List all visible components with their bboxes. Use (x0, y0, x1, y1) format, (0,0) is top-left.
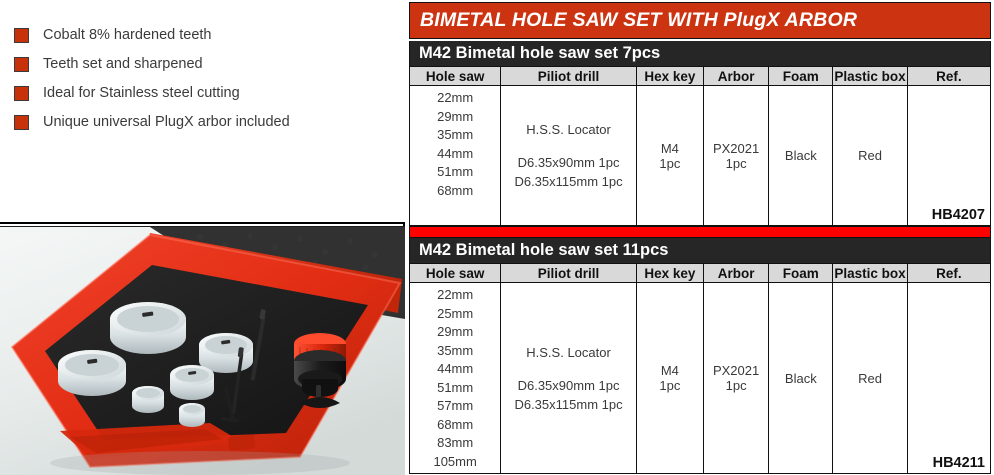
column-header-arbor: Arbor (703, 264, 768, 283)
arbor-model: PX2021 (704, 141, 768, 156)
hole-saw-size: 22mm (437, 89, 473, 108)
right-panel: BIMETAL HOLE SAW SET WITH PlugX ARBOR M4… (405, 0, 994, 475)
column-header-plastic-box: Plastic box (833, 264, 907, 283)
arbor-qty: 1pc (704, 156, 768, 171)
hole-saw-size: 44mm (437, 145, 473, 164)
hole-saw-size: 35mm (437, 126, 473, 145)
cell-pilot-drill: H.S.S. Locator D6.35x90mm 1pc D6.35x115m… (501, 86, 636, 226)
column-header-hole-saw: Hole saw (410, 67, 501, 86)
list-item: Cobalt 8% hardened teeth (14, 22, 405, 49)
bullet-square-icon (14, 115, 29, 130)
hole-saw-size: 22mm (437, 286, 473, 305)
table-header-row: Hole saw Piliot drill Hex key Arbor Foam… (410, 264, 991, 283)
column-header-hex-key: Hex key (636, 67, 703, 86)
feature-list: Cobalt 8% hardened teeth Teeth set and s… (0, 0, 405, 224)
hole-saw-size: 51mm (437, 379, 473, 398)
hole-saw-size: 51mm (437, 163, 473, 182)
feature-label: Unique universal PlugX arbor included (43, 115, 290, 130)
bullet-square-icon (14, 57, 29, 72)
bullet-square-icon (14, 86, 29, 101)
hex-key-size: M4 (637, 363, 703, 378)
pilot-locator: H.S.S. Locator (501, 343, 635, 362)
hex-key-qty: 1pc (637, 156, 703, 171)
arbor-qty: 1pc (704, 378, 768, 393)
cell-hole-saw-sizes: 22mm 29mm 35mm 44mm 51mm 68mm (410, 86, 501, 226)
column-header-hex-key: Hex key (636, 264, 703, 283)
column-header-pilot-drill: Piliot drill (501, 264, 636, 283)
hole-saw-size: 44mm (437, 360, 473, 379)
pilot-drill-spec: D6.35x115mm 1pc (501, 172, 635, 191)
section-title-bar: M42 Bimetal hole saw set 11pcs (409, 238, 991, 263)
bullet-square-icon (14, 28, 29, 43)
pilot-drill-spec: D6.35x90mm 1pc (501, 376, 635, 395)
column-header-ref: Ref. (907, 67, 990, 86)
hole-saw-size: 83mm (437, 434, 473, 453)
list-item: Unique universal PlugX arbor included (14, 109, 405, 136)
ref-code: HB4211 (933, 455, 985, 471)
ref-code: HB4207 (932, 207, 985, 223)
column-header-foam: Foam (769, 67, 833, 86)
list-item: Ideal for Stainless steel cutting (14, 80, 405, 107)
product-photo (0, 226, 405, 475)
cell-foam: Black (769, 86, 833, 226)
section-title: M42 Bimetal hole saw set 11pcs (410, 241, 668, 260)
left-panel: Cobalt 8% hardened teeth Teeth set and s… (0, 0, 405, 475)
hole-saw-size: 57mm (437, 397, 473, 416)
column-header-plastic-box: Plastic box (833, 67, 907, 86)
spec-table-11pcs: Hole saw Piliot drill Hex key Arbor Foam… (409, 263, 991, 474)
column-header-foam: Foam (769, 264, 833, 283)
cell-plastic-box: Red (833, 86, 907, 226)
cell-foam: Black (769, 283, 833, 474)
cell-arbor: PX2021 1pc (703, 283, 768, 474)
hole-saw-size: 25mm (437, 305, 473, 324)
spec-table-7pcs: Hole saw Piliot drill Hex key Arbor Foam… (409, 66, 991, 226)
arbor-model: PX2021 (704, 363, 768, 378)
section-title-bar: M42 Bimetal hole saw set 7pcs (409, 41, 991, 66)
column-header-arbor: Arbor (703, 67, 768, 86)
cell-arbor: PX2021 1pc (703, 86, 768, 226)
feature-label: Teeth set and sharpened (43, 57, 203, 72)
cell-hex-key: M4 1pc (636, 86, 703, 226)
table-header-row: Hole saw Piliot drill Hex key Arbor Foam… (410, 67, 991, 86)
cell-ref: HB4207 (907, 86, 990, 226)
hole-saw-size: 105mm (433, 453, 476, 472)
column-header-hole-saw: Hole saw (410, 264, 501, 283)
hex-key-qty: 1pc (637, 378, 703, 393)
cell-ref: HB4211 (907, 283, 990, 474)
pilot-locator: H.S.S. Locator (501, 120, 635, 139)
section-divider (409, 226, 991, 238)
product-datasheet: Cobalt 8% hardened teeth Teeth set and s… (0, 0, 994, 475)
feature-label: Cobalt 8% hardened teeth (43, 28, 212, 43)
pilot-drill-spec: D6.35x90mm 1pc (501, 153, 635, 172)
table-row: 22mm 29mm 35mm 44mm 51mm 68mm H.S.S. Loc… (410, 86, 991, 226)
section-title: M42 Bimetal hole saw set 7pcs (410, 44, 660, 63)
cell-hex-key: M4 1pc (636, 283, 703, 474)
list-item: Teeth set and sharpened (14, 51, 405, 78)
product-banner: BIMETAL HOLE SAW SET WITH PlugX ARBOR (409, 2, 991, 39)
cell-plastic-box: Red (833, 283, 907, 474)
column-header-ref: Ref. (907, 264, 990, 283)
hex-key-size: M4 (637, 141, 703, 156)
cell-pilot-drill: H.S.S. Locator D6.35x90mm 1pc D6.35x115m… (501, 283, 636, 474)
hole-saw-size: 68mm (437, 182, 473, 201)
section-7pcs: M42 Bimetal hole saw set 7pcs Hole saw P… (409, 41, 991, 226)
cell-hole-saw-sizes: 22mm 25mm 29mm 35mm 44mm 51mm 57mm 68mm … (410, 283, 501, 474)
product-photo-illustration (0, 227, 405, 475)
section-11pcs: M42 Bimetal hole saw set 11pcs Hole saw … (409, 238, 991, 474)
column-header-pilot-drill: Piliot drill (501, 67, 636, 86)
table-row: 22mm 25mm 29mm 35mm 44mm 51mm 57mm 68mm … (410, 283, 991, 474)
banner-title: BIMETAL HOLE SAW SET WITH PlugX ARBOR (410, 9, 857, 32)
feature-label: Ideal for Stainless steel cutting (43, 86, 240, 101)
hole-saw-size: 29mm (437, 323, 473, 342)
hole-saw-size: 68mm (437, 416, 473, 435)
pilot-drill-spec: D6.35x115mm 1pc (501, 395, 635, 414)
hole-saw-size: 35mm (437, 342, 473, 361)
hole-saw-size: 29mm (437, 108, 473, 127)
